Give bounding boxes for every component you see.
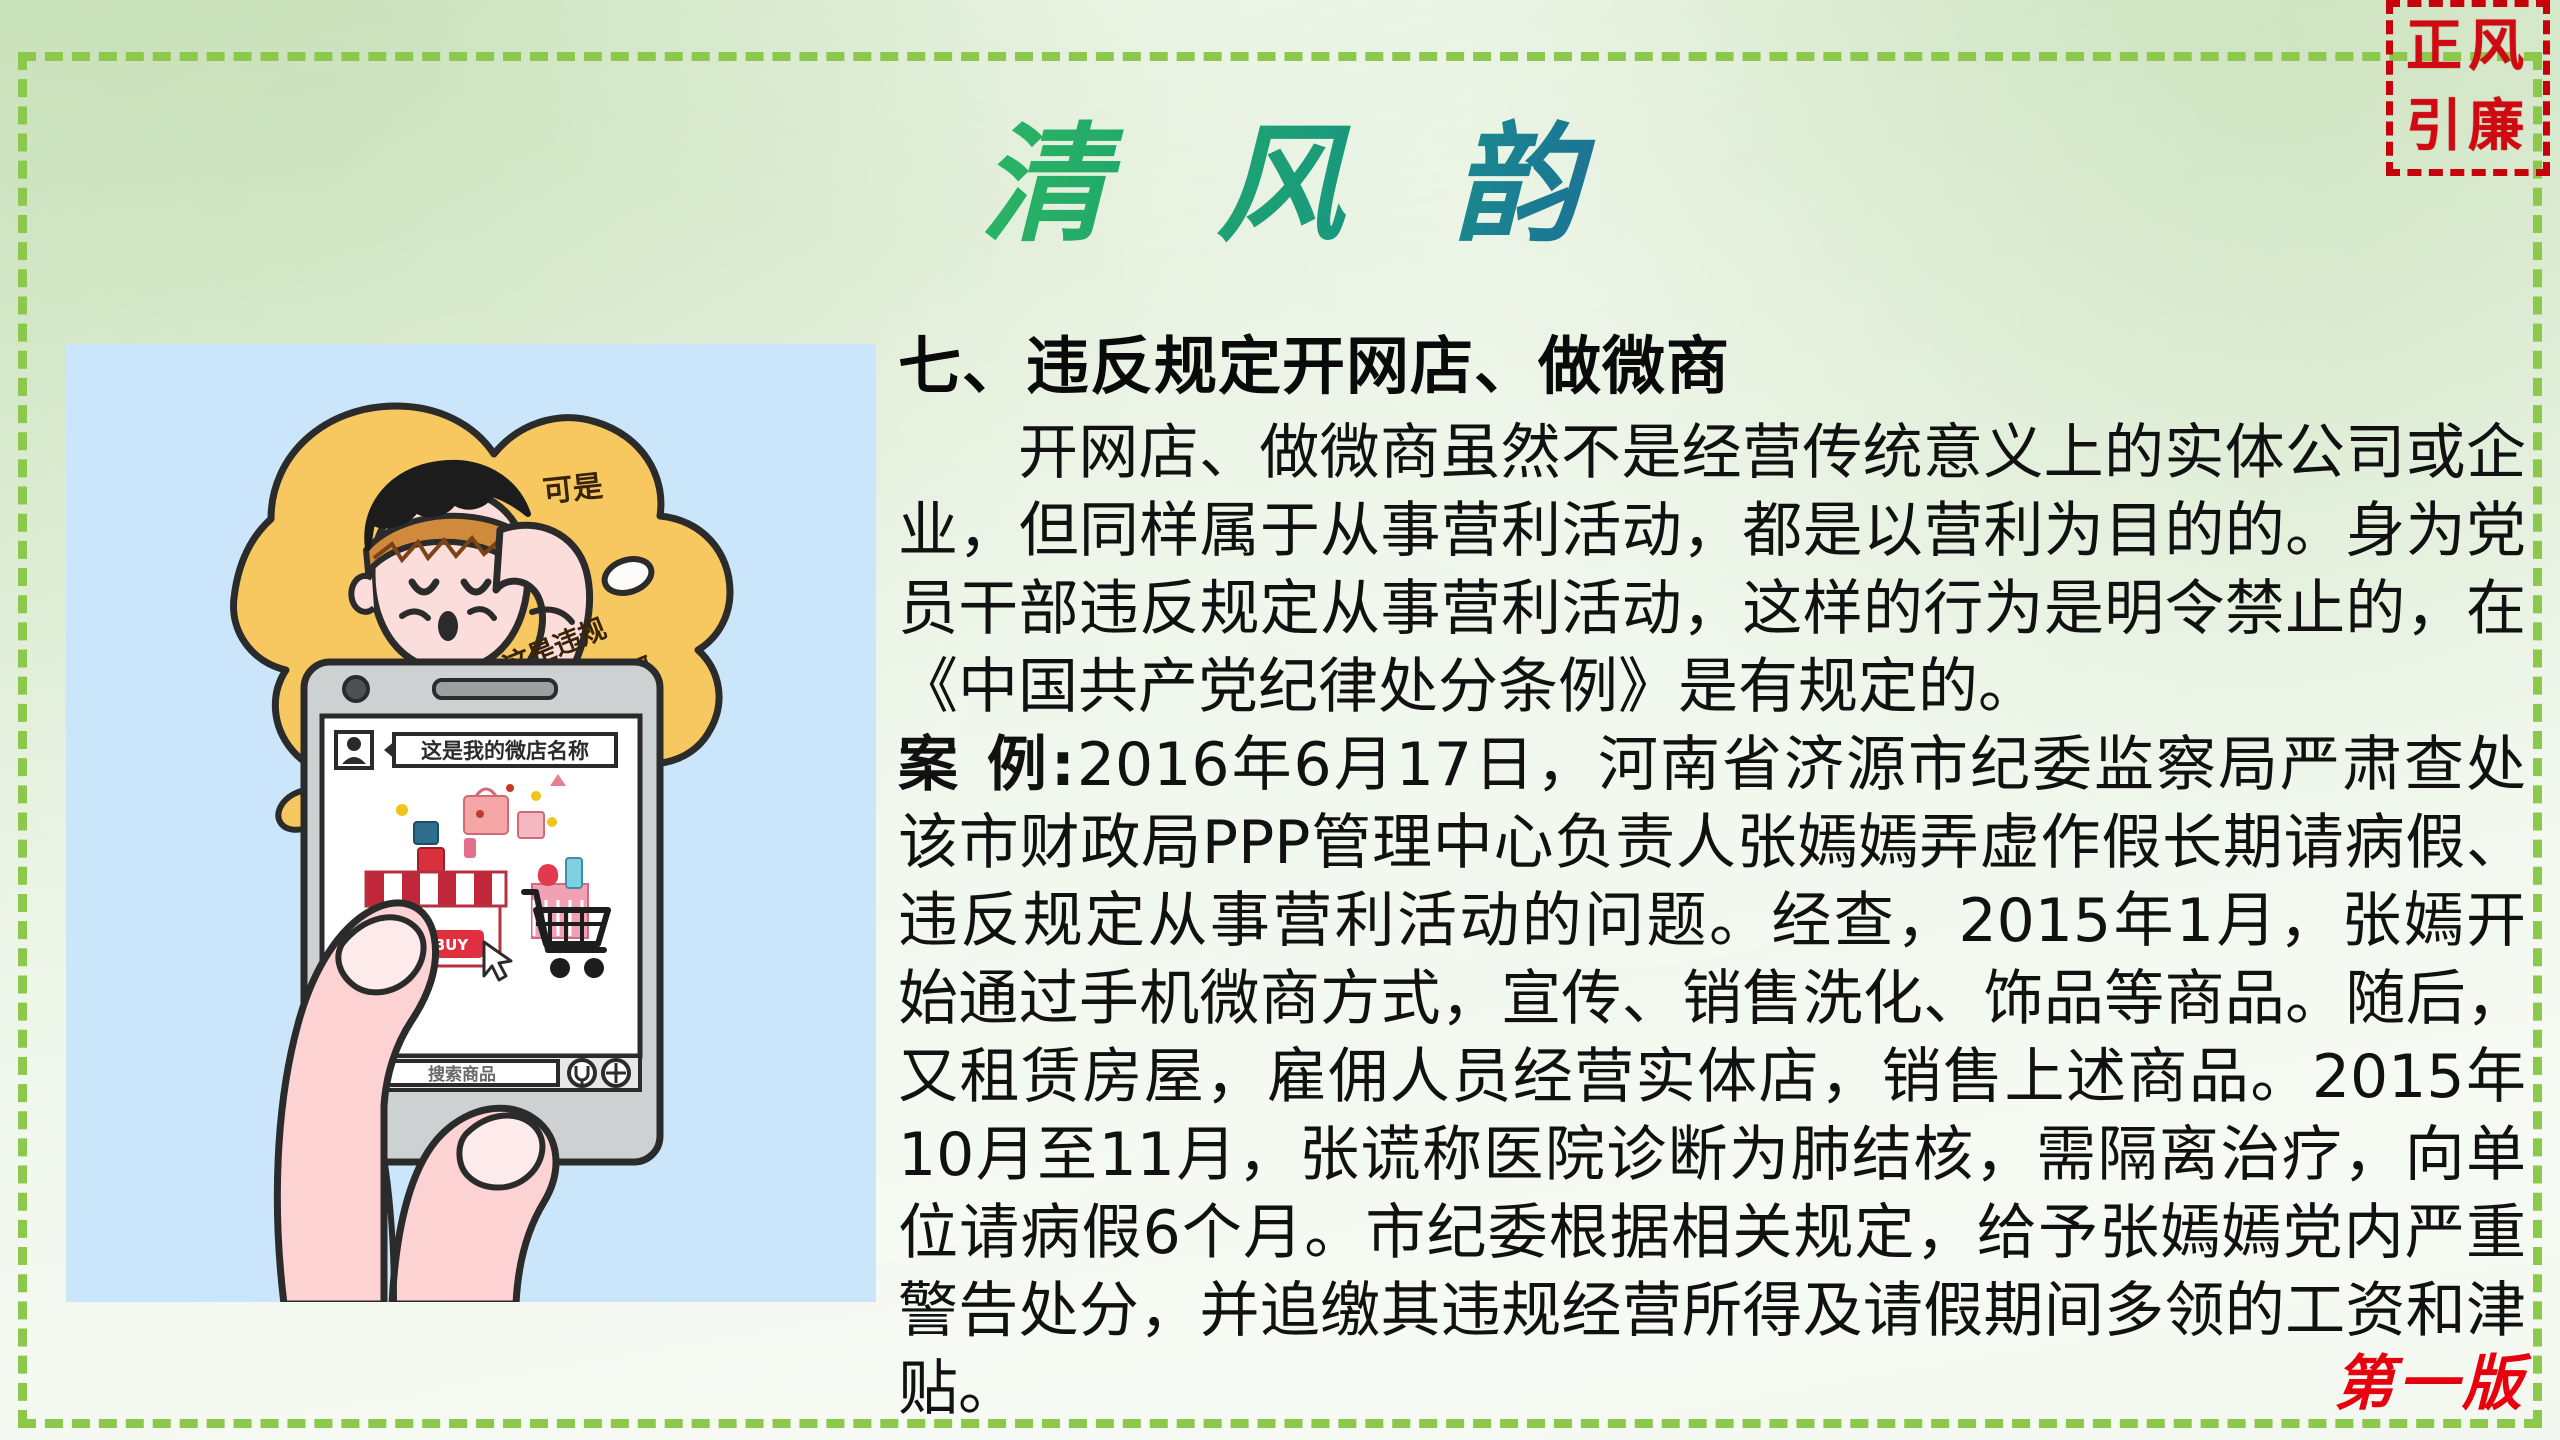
seal-line-top: 正风 [2406,8,2530,88]
case-label: 案 例: [898,730,1077,800]
seal-badge: 正风 引廉 [2386,0,2550,176]
buy-button-label: BUY [434,936,470,954]
content-area: 可是 这是违规 从事营利活动啊 [0,330,2560,1330]
article-case-paragraph: 案 例:2016年6月17日，河南省济源市纪委监察局严肃查处该市财政局PPP管理… [898,726,2526,1428]
seal-line-bottom: 引廉 [2406,88,2530,168]
masthead: 清 风 韵 [0,22,2560,350]
article: 七、违反规定开网店、做微商 开网店、做微商虽然不是经营传统意义上的实体公司或企业… [898,330,2526,1428]
case-body: 2016年6月17日，河南省济源市纪委监察局严肃查处该市财政局PPP管理中心负责… [898,730,2526,1424]
article-paragraph-1: 开网店、做微商虽然不是经营传统意义上的实体公司或企业，但同样属于从事营利活动，都… [898,414,2526,726]
newspaper-page: 清 风 韵 正风 引廉 第一版 [0,0,2560,1440]
illustration-svg: 可是 这是违规 从事营利活动啊 [66,344,876,1302]
page-title: 清 风 韵 [942,108,1618,264]
thought-text-line1: 可是 [541,469,604,510]
phone-search-placeholder: 搜索商品 [428,1064,496,1085]
article-illustration: 可是 这是违规 从事营利活动啊 [66,344,876,1302]
edition-label: 第一版 [2334,1335,2526,1422]
phone-shop-name: 这是我的微店名称 [421,739,589,763]
